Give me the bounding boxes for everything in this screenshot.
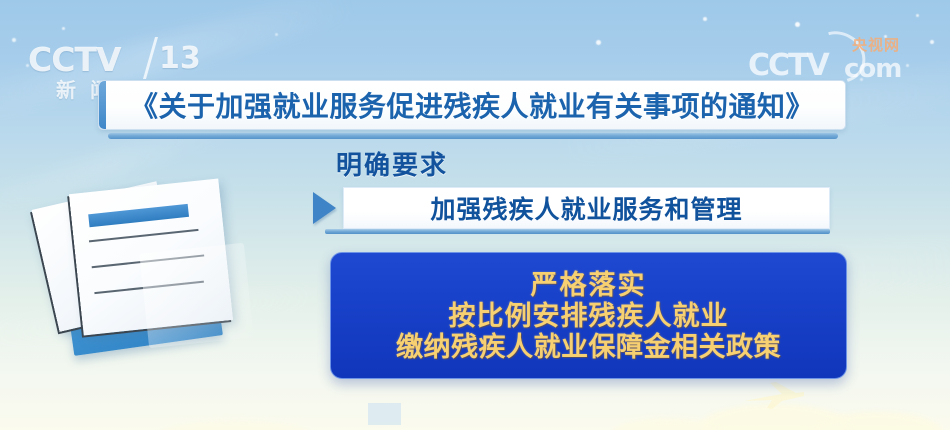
airplane-icon [742,381,806,411]
sparkle-dot [795,22,800,27]
sparkle-dot [62,27,65,30]
glass-sheen [139,243,253,348]
section-label: 明确要求 [336,145,448,182]
headline-panel: 《关于加强就业服务促进残疾人就业有关事项的通知》 [98,80,846,130]
sparkle-dot [596,40,601,45]
document-text-line [89,229,199,242]
sparkle-dot [12,38,16,42]
triangle-arrow-icon [313,192,336,224]
headline-underline [108,133,838,139]
watermark-chinese: 央视网 [852,34,900,55]
document-title-bar [88,204,189,227]
cloud-shape [700,404,850,430]
emphasis-line-1: 严格落实 [531,270,647,301]
cloud-shape [160,420,310,430]
cctv-com-watermark: CCTV com 央视网 [748,36,928,86]
section-point-panel: 加强残疾人就业服务和管理 [343,187,830,229]
logo-divider [120,37,158,79]
page-title: 《关于加强就业服务促进残疾人就业有关事项的通知》 [130,85,814,125]
watermark-letters: CCTV [748,48,828,83]
sparkle-dot [930,40,934,44]
document-stack-illustration [36,178,266,363]
cctv-channel-number: 13 [159,41,201,76]
sparkle-dot [703,17,707,21]
section-point-text: 加强残疾人就业服务和管理 [430,190,742,226]
broadcast-news-graphic: CCTV 13 新闻 CCTV com 央视网 《关于加强就业服务促进残疾人就业… [0,0,950,430]
section-point-underline [325,229,830,234]
cloud-shape [812,412,942,430]
emphasis-line-2: 按比例安排残疾人就业 [449,301,729,332]
watermark-domain: com [844,54,901,84]
sparkle-dot [916,14,919,17]
cloud-shape [612,418,722,430]
emphasis-box: 严格落实 按比例安排残疾人就业 缴纳残疾人就业保障金相关政策 [330,252,847,379]
decorative-square [368,403,401,425]
sparkle-dot [275,33,278,36]
emphasis-line-3: 缴纳残疾人就业保障金相关政策 [396,332,781,363]
